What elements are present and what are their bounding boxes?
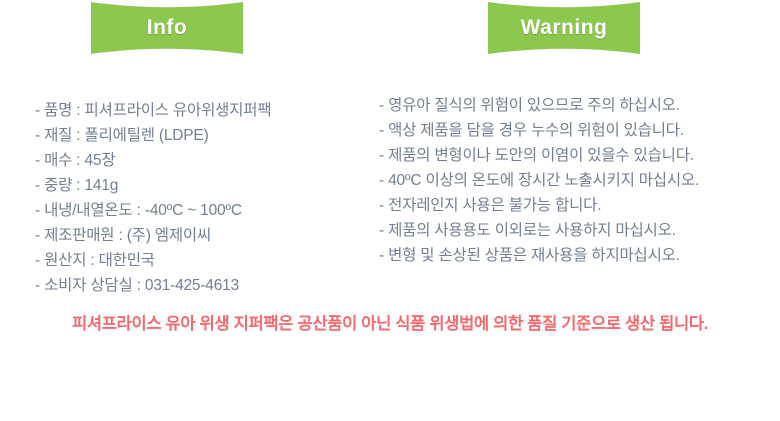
list-item: - 중량 : 141g [35, 173, 271, 198]
info-spec-list: - 품명 : 피셔프라이스 유아위생지퍼팩 - 재질 : 폴리에틸렌 (LDPE… [35, 98, 271, 298]
list-item: - 매수 : 45장 [35, 148, 271, 173]
list-item: - 소비자 상담실 : 031-425-4613 [35, 273, 271, 298]
list-item: - 원산지 : 대한민국 [35, 248, 271, 273]
list-item: - 품명 : 피셔프라이스 유아위생지퍼팩 [35, 98, 271, 123]
info-banner: Info [91, 2, 243, 54]
list-item: - 액상 제품을 담을 경우 누수의 위험이 있습니다. [379, 118, 699, 143]
list-item: - 영유아 질식의 위험이 있으므로 주의 하십시오. [379, 93, 699, 118]
warning-list: - 영유아 질식의 위험이 있으므로 주의 하십시오. - 액상 제품을 담을 … [379, 93, 699, 268]
list-item: - 40ºC 이상의 온도에 장시간 노출시키지 마십시오. [379, 168, 699, 193]
footer-notice: 피셔프라이스 유아 위생 지퍼팩은 공산품이 아닌 식품 위생법에 의한 품질 … [0, 312, 780, 336]
list-item: - 전자레인지 사용은 불가능 합니다. [379, 193, 699, 218]
info-banner-label: Info [147, 17, 187, 40]
list-item: - 제품의 사용용도 이외로는 사용하지 마십시오. [379, 218, 699, 243]
list-item: - 내냉/내열온도 : -40ºC ~ 100ºC [35, 198, 271, 223]
list-item: - 제품의 변형이나 도안의 이염이 있을수 있습니다. [379, 143, 699, 168]
list-item: - 제조판매원 : (주) 엠제이씨 [35, 223, 271, 248]
list-item: - 변형 및 손상된 상품은 재사용을 하지마십시오. [379, 243, 699, 268]
list-item: - 재질 : 폴리에틸렌 (LDPE) [35, 123, 271, 148]
product-info-graphic: Info Warning - 품명 : 피셔프라이스 유아위생지퍼팩 - 재질 … [0, 0, 780, 421]
warning-banner-label: Warning [521, 17, 608, 40]
warning-banner: Warning [488, 2, 640, 54]
